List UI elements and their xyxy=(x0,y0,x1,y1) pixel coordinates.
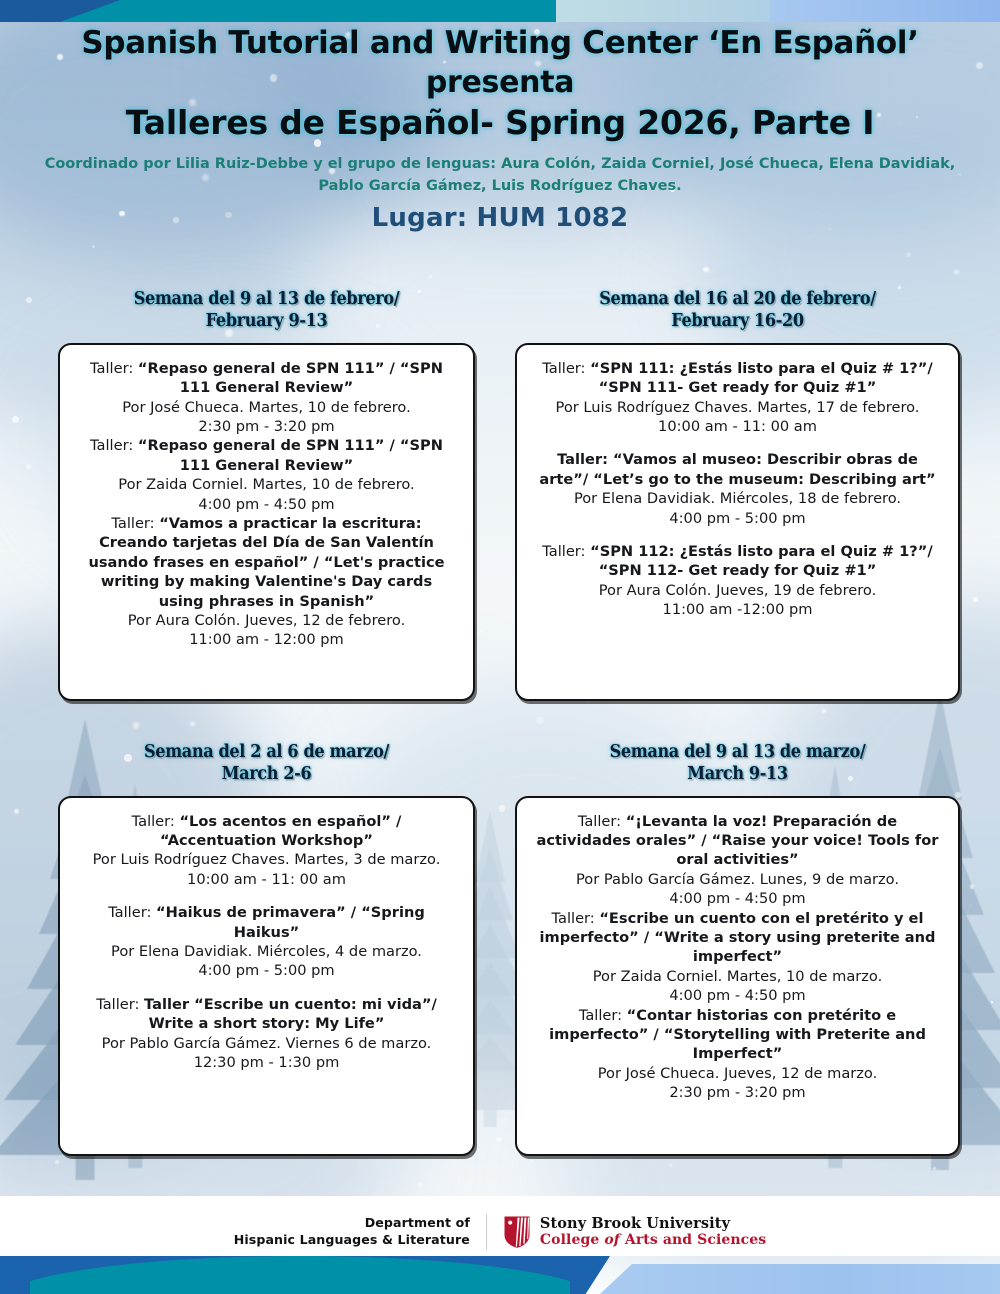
sbu-college-name: College of Arts and Sciences xyxy=(540,1232,766,1249)
workshop-label: Taller: xyxy=(578,813,626,830)
week-heading-1: Semana del 9 al 13 de febrero/ February … xyxy=(75,288,459,333)
workshop-title-text: “Los acentos en español” / “Accentuation… xyxy=(160,813,401,849)
department-line-2: Hispanic Languages & Literature xyxy=(234,1232,470,1249)
workshop-title: Taller: “¡Levanta la voz! Preparación de… xyxy=(533,812,942,870)
snowflake xyxy=(418,1183,422,1187)
week-heading-es: Semana del 16 al 20 de febrero/ xyxy=(599,289,875,309)
top-bar-light-band-right xyxy=(770,0,1000,22)
workshop-title-text: “SPN 111: ¿Estás listo para el Quiz # 1?… xyxy=(590,360,933,396)
title-line-3: Talleres de Español- Spring 2026, Parte … xyxy=(0,102,1000,144)
week-heading-en: February 9-13 xyxy=(206,311,328,331)
workshop-time: 4:00 pm - 4:50 pm xyxy=(76,495,457,514)
workshop-title-text: “Repaso general de SPN 111” / “SPN 111 G… xyxy=(138,437,443,473)
workshop-title: Taller: “Vamos a practicar la escritura:… xyxy=(76,514,457,611)
sbu-college-a: College xyxy=(540,1232,604,1248)
coordinator-credits: Coordinado por Lilia Ruiz-Debbe y el gru… xyxy=(0,154,1000,198)
week-column-1: Semana del 9 al 13 de febrero/ February … xyxy=(0,288,500,701)
snowflake xyxy=(92,245,95,248)
workshop-time: 12:30 pm - 1:30 pm xyxy=(76,1053,457,1072)
snowflake xyxy=(530,1159,532,1161)
workshop-title: Taller: “Repaso general de SPN 111” / “S… xyxy=(76,359,457,398)
poster-header: Spanish Tutorial and Writing Center ‘En … xyxy=(0,24,1000,233)
workshop-presenter: Por Luis Rodríguez Chaves. Martes, 17 de… xyxy=(533,398,942,417)
sbu-university-name: Stony Brook University xyxy=(540,1215,766,1232)
workshop-presenter: Por José Chueca. Jueves, 12 de marzo. xyxy=(533,1064,942,1083)
workshop-title: Taller: “Escribe un cuento con el pretér… xyxy=(533,909,942,967)
workshop-label: Taller: xyxy=(557,451,613,468)
workshop-title-text: “Escribe un cuento con el pretérito y el… xyxy=(540,910,936,966)
workshop-label: Taller: xyxy=(542,543,590,560)
workshop-title: Taller: “SPN 112: ¿Estás listo para el Q… xyxy=(533,542,942,581)
workshop-presenter: Por Zaida Corniel. Martes, 10 de febrero… xyxy=(76,475,457,494)
top-bar-light-band-left xyxy=(556,0,776,22)
workshop-label: Taller: xyxy=(552,910,600,927)
snowflake xyxy=(954,270,958,274)
workshop-presenter: Por Pablo García Gámez. Lunes, 9 de marz… xyxy=(533,870,942,889)
week-heading-en: March 2-6 xyxy=(222,764,312,784)
workshop-time: 2:30 pm - 3:20 pm xyxy=(76,417,457,436)
workshop-time: 4:00 pm - 4:50 pm xyxy=(533,889,942,908)
workshop-label: Taller: xyxy=(96,996,144,1013)
workshop-time: 4:00 pm - 5:00 pm xyxy=(76,961,457,980)
bottom-bar-light-band xyxy=(600,1264,1000,1294)
workshop-title-text: Taller “Escribe un cuento: mi vida”/ Wri… xyxy=(144,996,437,1032)
entry-spacer xyxy=(76,889,457,903)
workshop-label: Taller: xyxy=(90,437,138,454)
workshop-time: 11:00 am - 12:00 pm xyxy=(76,630,457,649)
entry-spacer xyxy=(533,528,942,542)
workshop-presenter: Por Zaida Corniel. Martes, 10 de marzo. xyxy=(533,967,942,986)
workshop-label: Taller: xyxy=(579,1007,627,1024)
bottom-decorative-bar xyxy=(0,1256,1000,1294)
stony-brook-logo-text: Stony Brook University College of Arts a… xyxy=(540,1215,766,1249)
workshop-title: Taller: Taller “Escribe un cuento: mi vi… xyxy=(76,995,457,1034)
week-column-3: Semana del 2 al 6 de marzo/ March 2-6 Ta… xyxy=(0,741,500,1156)
department-logo-text: Department of Hispanic Languages & Liter… xyxy=(234,1215,486,1249)
week-heading-2: Semana del 16 al 20 de febrero/ February… xyxy=(533,288,942,333)
workshop-presenter: Por Pablo García Gámez. Viernes 6 de mar… xyxy=(76,1034,457,1053)
sbu-college-c: Arts and Sciences xyxy=(620,1232,766,1248)
week-heading-3: Semana del 2 al 6 de marzo/ March 2-6 xyxy=(75,741,459,786)
location-label: Lugar: HUM 1082 xyxy=(0,203,1000,233)
workshop-label: Taller: xyxy=(132,813,180,830)
week-column-4: Semana del 9 al 13 de marzo/ March 9-13 … xyxy=(500,741,1000,1156)
workshop-time: 2:30 pm - 3:20 pm xyxy=(533,1083,942,1102)
workshop-title: Taller: “Vamos al museo: Describir obras… xyxy=(533,450,942,489)
department-line-1: Department of xyxy=(234,1215,470,1232)
workshop-label: Taller: xyxy=(111,515,159,532)
workshop-presenter: Por Aura Colón. Jueves, 19 de febrero. xyxy=(533,581,942,600)
top-bar-teal-band xyxy=(60,0,560,22)
snowflake xyxy=(906,252,911,257)
week-card-4: Taller: “¡Levanta la voz! Preparación de… xyxy=(515,796,960,1156)
workshop-title-text: “Haikus de primavera” / “Spring Haikus” xyxy=(156,904,425,940)
workshop-label: Taller: xyxy=(90,360,138,377)
footer-logos: Department of Hispanic Languages & Liter… xyxy=(0,1214,1000,1250)
workshop-title: Taller: “Repaso general de SPN 111” / “S… xyxy=(76,436,457,475)
top-decorative-bar xyxy=(0,0,1000,22)
entry-spacer xyxy=(533,436,942,450)
poster-canvas: Spanish Tutorial and Writing Center ‘En … xyxy=(0,0,1000,1294)
workshop-time: 4:00 pm - 5:00 pm xyxy=(533,509,942,528)
title-line-2: presenta xyxy=(0,64,1000,102)
workshop-schedule-grid: Semana del 9 al 13 de febrero/ February … xyxy=(0,288,1000,1156)
week-heading-en: February 16-20 xyxy=(671,311,803,331)
entry-spacer xyxy=(76,981,457,995)
week-heading-4: Semana del 9 al 13 de marzo/ March 9-13 xyxy=(533,741,942,786)
workshop-label: Taller: xyxy=(108,904,156,921)
workshop-presenter: Por Elena Davidiak. Miércoles, 18 de feb… xyxy=(533,489,942,508)
workshop-title: Taller: “Haikus de primavera” / “Spring … xyxy=(76,903,457,942)
title-line-1: Spanish Tutorial and Writing Center ‘En … xyxy=(0,24,1000,64)
workshop-presenter: Por José Chueca. Martes, 10 de febrero. xyxy=(76,398,457,417)
stony-brook-logo: Stony Brook University College of Arts a… xyxy=(487,1215,766,1249)
workshop-title-text: “Repaso general de SPN 111” / “SPN 111 G… xyxy=(138,360,443,396)
workshop-time: 10:00 am - 11: 00 am xyxy=(533,417,942,436)
week-heading-es: Semana del 9 al 13 de marzo/ xyxy=(610,742,866,762)
workshop-title-text: “SPN 112: ¿Estás listo para el Quiz # 1?… xyxy=(590,543,933,579)
week-card-1: Taller: “Repaso general de SPN 111” / “S… xyxy=(58,343,475,701)
week-column-2: Semana del 16 al 20 de febrero/ February… xyxy=(500,288,1000,701)
week-card-2: Taller: “SPN 111: ¿Estás listo para el Q… xyxy=(515,343,960,701)
workshop-presenter: Por Elena Davidiak. Miércoles, 4 de marz… xyxy=(76,942,457,961)
workshop-title: Taller: “Contar historias con pretérito … xyxy=(533,1006,942,1064)
workshop-time: 11:00 am -12:00 pm xyxy=(533,600,942,619)
schedule-row-2: Semana del 2 al 6 de marzo/ March 2-6 Ta… xyxy=(0,741,1000,1156)
week-heading-es: Semana del 2 al 6 de marzo/ xyxy=(144,742,389,762)
workshop-time: 10:00 am - 11: 00 am xyxy=(76,870,457,889)
shield-icon xyxy=(503,1215,531,1249)
workshop-label: Taller: xyxy=(542,360,590,377)
sbu-college-of: of xyxy=(604,1232,620,1248)
week-card-3: Taller: “Los acentos en español” / “Acce… xyxy=(58,796,475,1156)
workshop-presenter: Por Luis Rodríguez Chaves. Martes, 3 de … xyxy=(76,850,457,869)
workshop-time: 4:00 pm - 4:50 pm xyxy=(533,986,942,1005)
workshop-title: Taller: “Los acentos en español” / “Acce… xyxy=(76,812,457,851)
workshop-title: Taller: “SPN 111: ¿Estás listo para el Q… xyxy=(533,359,942,398)
workshop-presenter: Por Aura Colón. Jueves, 12 de febrero. xyxy=(76,611,457,630)
snowflake xyxy=(429,275,432,278)
schedule-row-1: Semana del 9 al 13 de febrero/ February … xyxy=(0,288,1000,701)
snowflake xyxy=(55,1160,59,1164)
week-heading-en: March 9-13 xyxy=(687,764,787,784)
week-heading-es: Semana del 9 al 13 de febrero/ xyxy=(134,289,400,309)
